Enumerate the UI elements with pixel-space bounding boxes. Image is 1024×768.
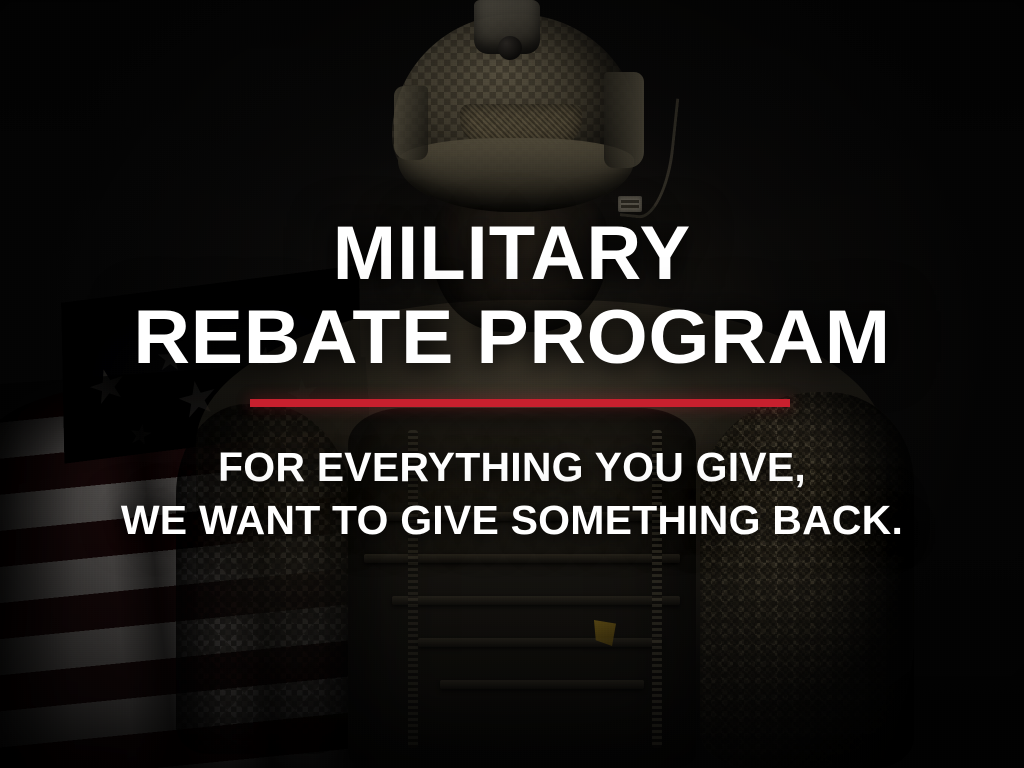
red-accent-divider [250,399,790,407]
poster-content: MILITARY REBATE PROGRAM FOR EVERYTHING Y… [0,0,1024,768]
subheadline-line-2: WE WANT TO GIVE SOMETHING BACK. [0,500,1024,541]
headline-line-2: REBATE PROGRAM [0,302,1024,374]
military-rebate-poster: MILITARY REBATE PROGRAM FOR EVERYTHING Y… [0,0,1024,768]
headline-line-1: MILITARY [0,218,1024,290]
subheadline-line-1: FOR EVERYTHING YOU GIVE, [0,447,1024,488]
